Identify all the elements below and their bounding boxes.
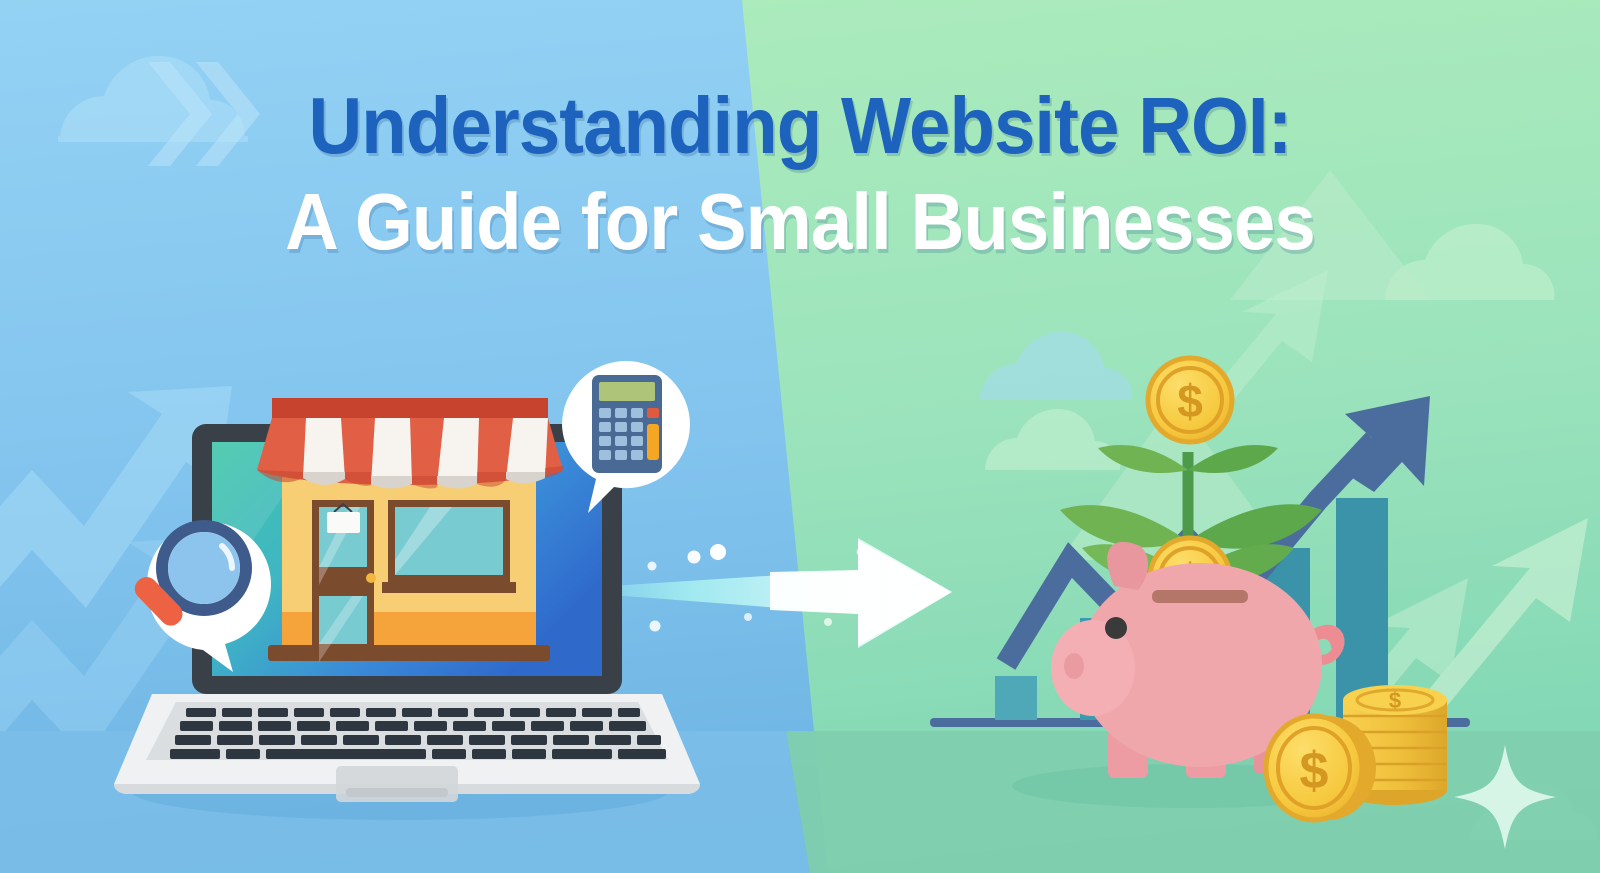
calculator-key-equals	[647, 424, 659, 460]
laptop-storefront-illustration	[0, 0, 1600, 873]
trackpad-notch	[346, 788, 448, 797]
store-window-ledge	[382, 582, 516, 593]
awning-top-bar	[272, 398, 548, 418]
store-sill	[268, 645, 550, 661]
laptop-base	[114, 694, 700, 802]
calculator-key-clear	[647, 408, 659, 418]
storefront-graphic	[257, 398, 563, 662]
door-handle	[366, 573, 376, 583]
calculator-display	[599, 382, 655, 401]
awning-stripes	[257, 418, 563, 489]
store-sign	[327, 512, 360, 533]
poster-canvas: $ $	[0, 0, 1600, 873]
